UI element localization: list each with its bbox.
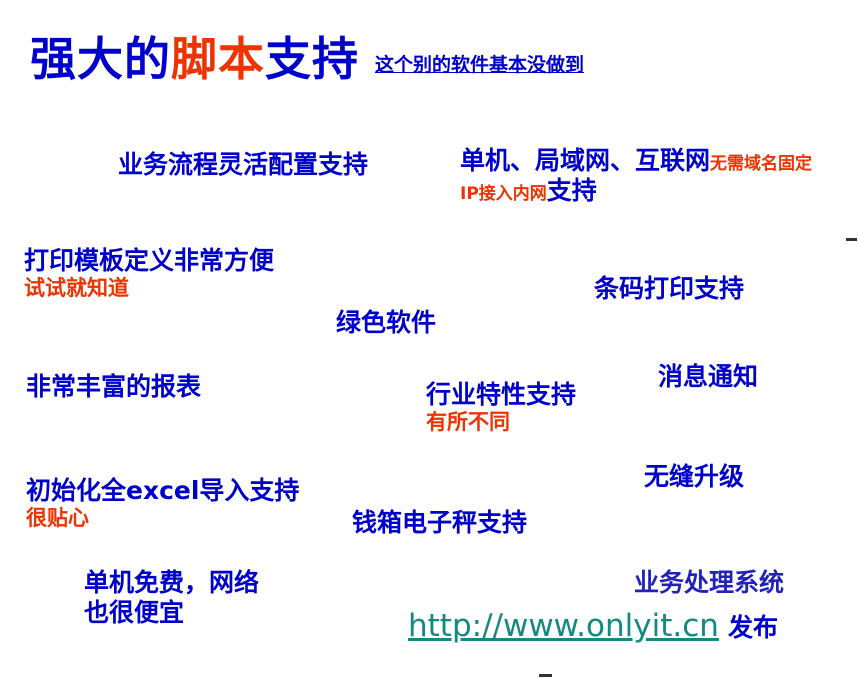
feature-excel-import-note: 很贴心 (26, 506, 299, 531)
slide-canvas: 强大的 脚本 支持 这个别的软件基本没做到 业务流程灵活配置支持 单机、局域网、… (0, 0, 858, 678)
feature-barcode-printing: 条码打印支持 (594, 274, 744, 304)
artifact-dash-bottom (539, 674, 552, 677)
artifact-dash-right (846, 238, 857, 241)
title-part-2-highlight: 脚本 (171, 36, 265, 82)
feature-pricing-line-2: 也很便宜 (84, 598, 259, 628)
title-part-1: 强大的 (30, 36, 171, 82)
feature-cash-drawer-scale: 钱箱电子秤支持 (352, 508, 527, 538)
feature-seamless-upgrade: 无缝升级 (644, 462, 744, 492)
feature-business-system: 业务处理系统 (634, 568, 784, 598)
feature-message-notification: 消息通知 (658, 362, 758, 392)
feature-excel-import-title: 初始化全excel导入支持 (26, 476, 299, 506)
feature-network-modes-lead: 单机、局域网、互联网 (460, 146, 710, 175)
feature-green-software: 绿色软件 (336, 308, 436, 338)
feature-network-modes-tail: 支持 (547, 176, 597, 205)
feature-rich-reports: 非常丰富的报表 (26, 372, 201, 402)
footer-publisher-label: 发布 (728, 608, 778, 644)
feature-print-template: 打印模板定义非常方便 试试就知道 (24, 246, 274, 300)
title-subtitle: 这个别的软件基本没做到 (375, 50, 584, 77)
feature-pricing-line-1: 单机免费，网络 (84, 568, 259, 598)
feature-industry-specific-title: 行业特性支持 (426, 380, 576, 410)
footer-url-link[interactable]: http://www.onlyit.cn (408, 608, 719, 644)
title-part-3: 支持 (265, 36, 359, 82)
footer: http://www.onlyit.cn 发布 (408, 608, 778, 644)
feature-network-modes: 单机、局域网、互联网无需域名固定IP接入内网支持 (460, 146, 820, 205)
feature-industry-specific: 行业特性支持 有所不同 (426, 380, 576, 434)
feature-print-template-title: 打印模板定义非常方便 (24, 246, 274, 276)
feature-industry-specific-note: 有所不同 (426, 410, 576, 435)
feature-pricing: 单机免费，网络 也很便宜 (84, 568, 259, 627)
feature-print-template-note: 试试就知道 (24, 276, 274, 301)
page-title: 强大的 脚本 支持 这个别的软件基本没做到 (30, 36, 584, 82)
feature-excel-import: 初始化全excel导入支持 很贴心 (26, 476, 299, 530)
feature-workflow-config: 业务流程灵活配置支持 (118, 150, 368, 180)
